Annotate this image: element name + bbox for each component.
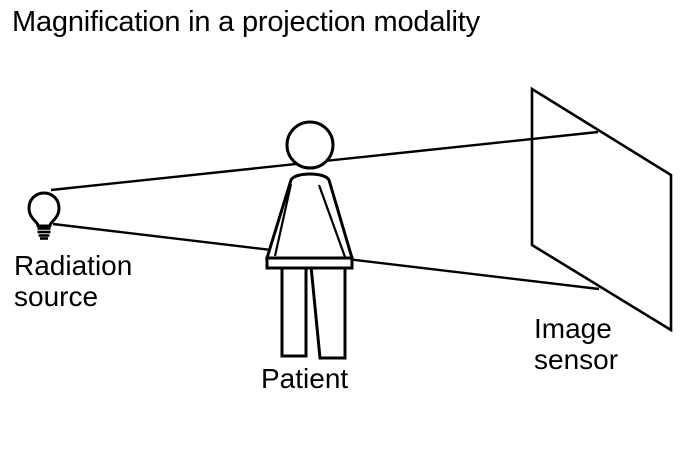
sensor-panel-outline [532,89,671,330]
label-image-sensor: Image sensor [534,313,618,375]
patient-figure [267,122,352,358]
figure-root: Magnification in a projection modality [0,0,683,450]
patient-hip-band [267,258,352,268]
label-radiation-source: Radiation source [14,250,132,312]
label-patient: Patient [261,363,348,394]
bulb-glass [29,193,59,226]
patient-torso [267,174,352,258]
patient-right-leg [311,266,345,358]
patient-left-leg [282,266,306,356]
image-sensor-panel [532,89,671,330]
patient-head [287,122,333,168]
radiation-source-bulb-icon [29,193,59,239]
